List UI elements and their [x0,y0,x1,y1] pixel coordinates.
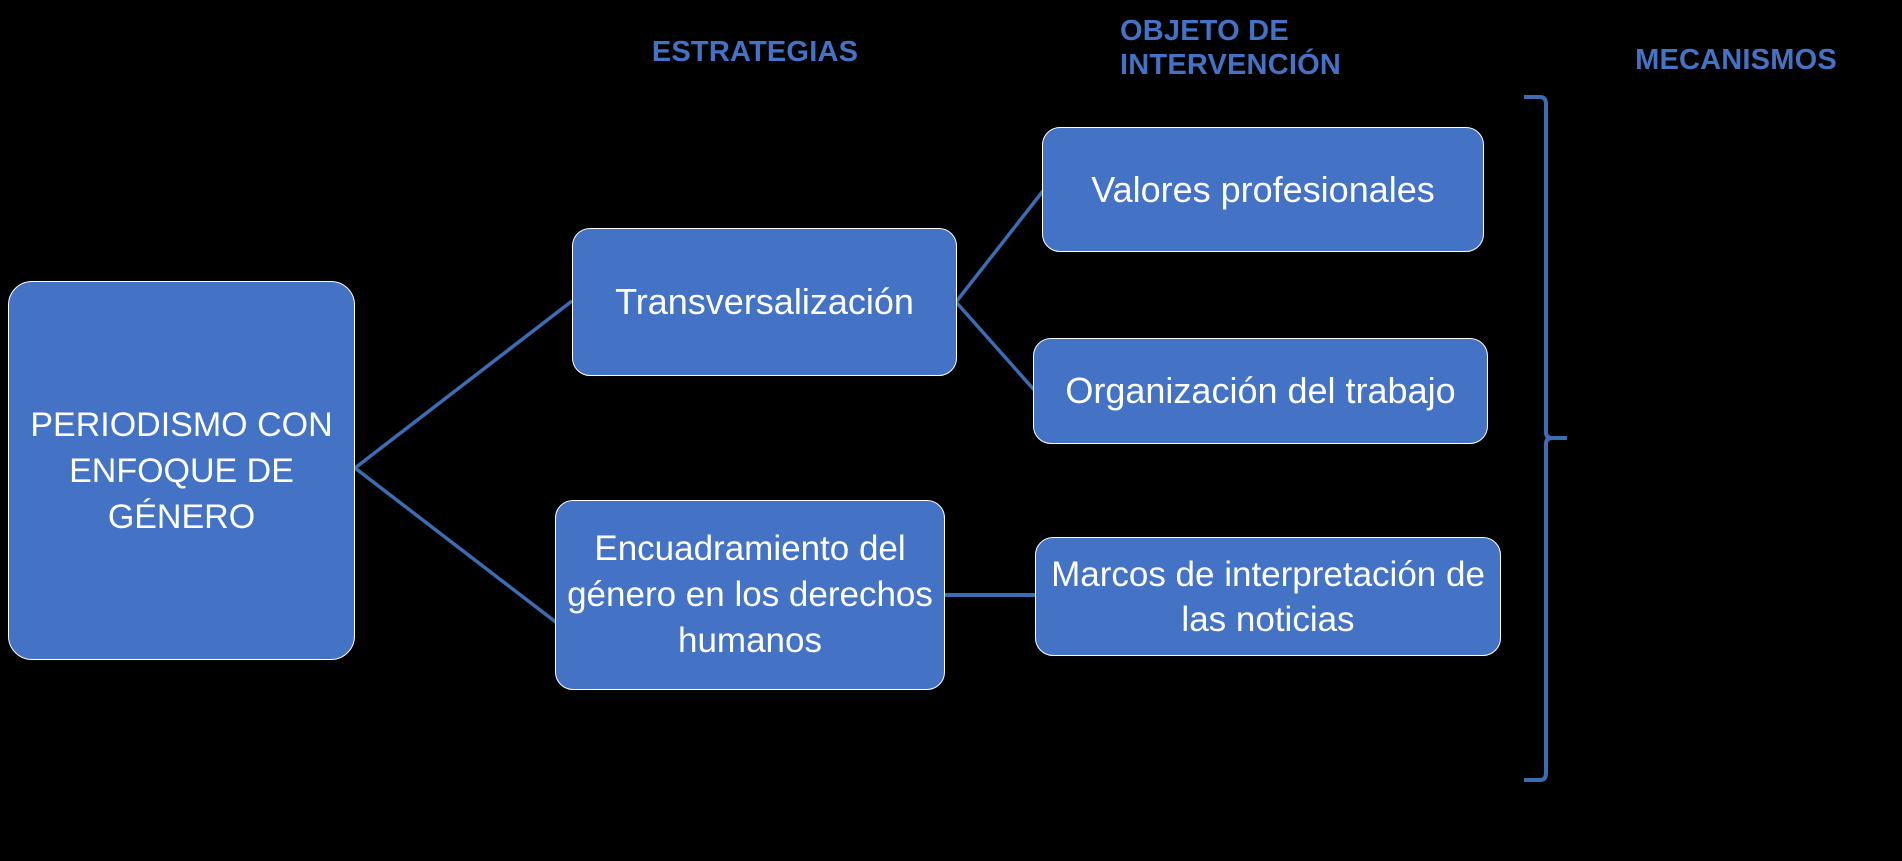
column-header-estrategias: ESTRATEGIAS [555,35,955,69]
node-organizacion-del-trabajo[interactable]: Organización del trabajo [1033,338,1488,444]
bracket-path [1524,97,1567,780]
edge-root-to-encuadramiento [355,468,557,623]
edge-root-to-transversalizacion [355,301,572,468]
node-valores-profesionales[interactable]: Valores profesionales [1042,127,1484,252]
edge-transversalizacion-to-valores [956,191,1043,302]
node-periodismo-con-enfoque-de-genero[interactable]: PERIODISMO CON ENFOQUE DE GÉNERO [8,281,355,660]
diagram-canvas: ESTRATEGIAS OBJETO DE INTERVENCIÓN MECAN… [0,0,1902,861]
node-encuadramiento-del-genero-en-los-derechos-humanos[interactable]: Encuadramiento del género en los derecho… [555,500,945,690]
column-header-mecanismos: MECANISMOS [1596,43,1876,77]
column-header-objeto-de-intervencion: OBJETO DE INTERVENCIÓN [1020,14,1380,82]
edge-transversalizacion-to-organizacion [956,302,1036,392]
node-transversalizacion[interactable]: Transversalización [572,228,957,376]
node-marcos-de-interpretacion-de-las-noticias[interactable]: Marcos de interpretación de las noticias [1035,537,1501,656]
